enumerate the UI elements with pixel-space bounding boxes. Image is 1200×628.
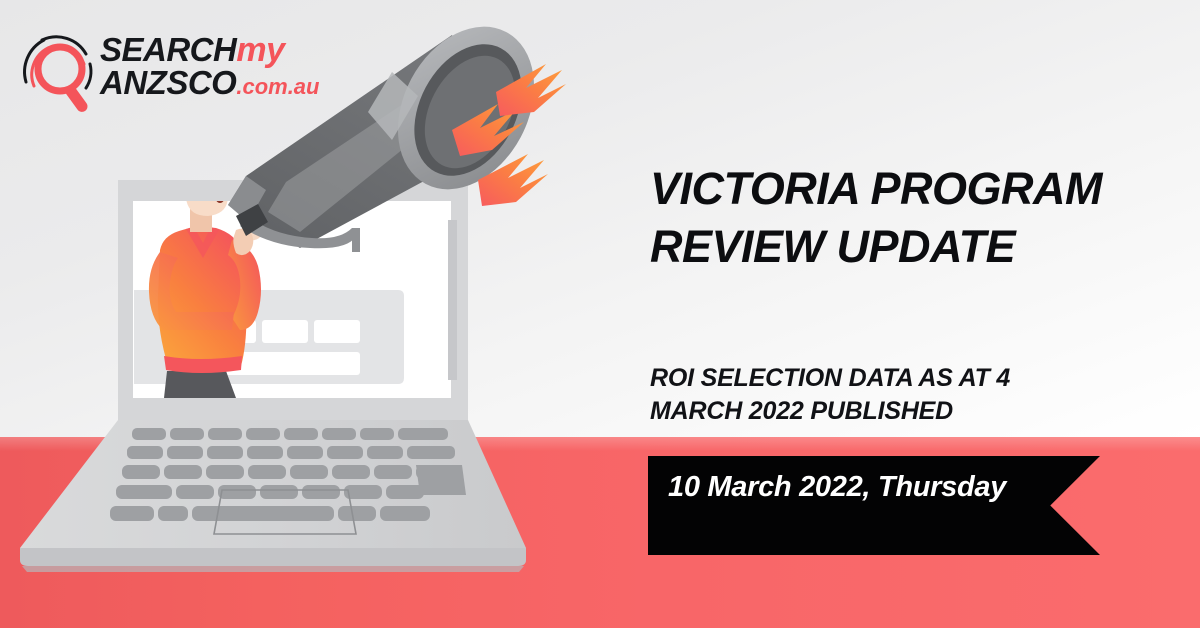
logo-search-text: SEARCH <box>100 31 236 68</box>
page-subtitle: ROI SELECTION DATA AS AT 4 MARCH 2022 PU… <box>650 362 1100 429</box>
logo-anzsco-text: ANZSCO <box>100 64 236 101</box>
logo-wordmark: SEARCHmy ANZSCO.com.au <box>100 34 315 98</box>
promo-banner: SEARCHmy ANZSCO.com.au VICTORIA PROGRAM … <box>0 0 1200 628</box>
date-banner-text: 10 March 2022, Thursday <box>668 470 1048 505</box>
searchmyanzsco-logo[interactable]: SEARCHmy ANZSCO.com.au <box>14 22 314 122</box>
magnifying-glass-icon <box>14 24 110 120</box>
logo-my-text: my <box>236 31 284 69</box>
logo-domain-text: .com.au <box>236 74 319 99</box>
page-title: VICTORIA PROGRAM REVIEW UPDATE <box>650 160 1170 275</box>
